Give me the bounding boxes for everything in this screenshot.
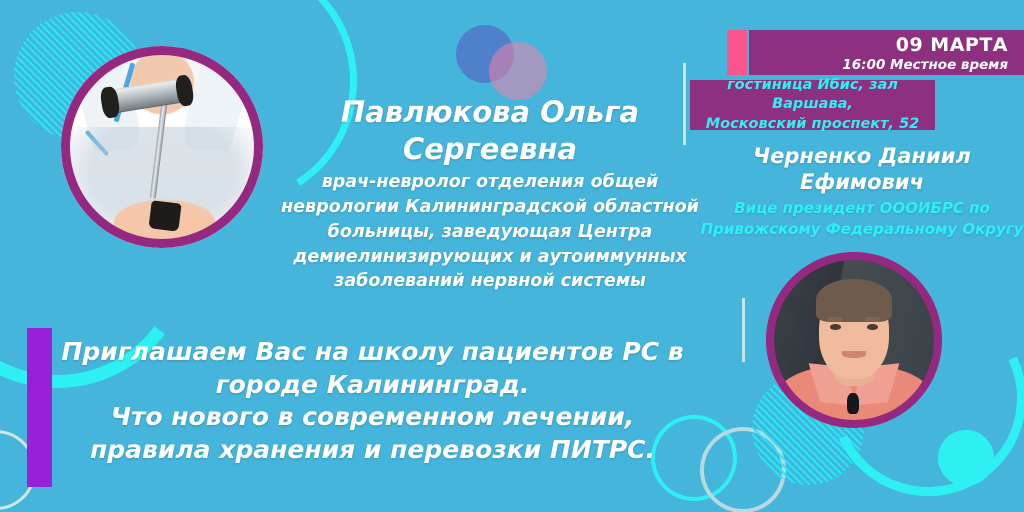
invitation-text: Приглашаем Вас на школу пациентов РС в г… [60, 336, 685, 466]
event-time: 16:00 Местное время [842, 57, 1008, 73]
venue-address-line1: гостиница Ибис, зал Варшава, [698, 76, 927, 115]
speaker-bio-vp-line1: Вице президент ОООИБРС по [734, 199, 990, 217]
speaker-name-doctor: Павлюкова Ольга Сергеевна [268, 94, 712, 167]
cyan-dot-bottom-right [938, 430, 994, 486]
invitation-line4: правила хранения и перевозки ПИТРС. [60, 434, 685, 467]
invitation-accent-bar [27, 328, 52, 487]
divider-line-right [742, 298, 745, 362]
speaker-name-doctor-line1: Павлюкова Ольга [341, 95, 639, 129]
speaker-name-vp-line1: Черненко Даниил [753, 144, 971, 168]
speaker-bio-doctor-line2: неврологии Калининградской областной [281, 197, 699, 217]
speaker-bio-doctor: врач-невролог отделения общей неврологии… [262, 170, 718, 294]
venue-banner: гостиница Ибис, зал Варшава, Московский … [690, 80, 935, 130]
venue-address-line2: Московский проспект, 52 [698, 115, 927, 135]
venue-address: гостиница Ибис, зал Варшава, Московский … [690, 80, 935, 130]
speaker-bio-doctor-line4: демиелинизирующих и аутоиммунных [293, 247, 687, 267]
speaker-bio-doctor-line1: врач-невролог отделения общей [322, 172, 659, 192]
invitation-line2: городе Калининград. [60, 369, 685, 402]
speaker-name-vp: Черненко Даниил Ефимович [700, 143, 1024, 196]
overlap-circle-pink [489, 42, 547, 100]
event-poster: 09 МАРТА 16:00 Местное время гостиница И… [0, 0, 1024, 512]
ring-outline-gray-bottom [700, 427, 786, 512]
speaker-bio-doctor-line5: заболеваний нервной системы [334, 271, 646, 291]
speaker-bio-vp: Вице президент ОООИБРС по Привожскому Фе… [700, 198, 1024, 239]
date-banner-pink-tab [727, 30, 747, 75]
date-banner: 09 МАРТА 16:00 Местное время [749, 30, 1024, 75]
speaker-name-vp-line2: Ефимович [800, 170, 924, 194]
event-date: 09 МАРТА [896, 34, 1008, 56]
invitation-line3: Что нового в современном лечении, [60, 401, 685, 434]
speaker-photo-vp-ring [766, 252, 942, 428]
speaker-bio-vp-line2: Привожскому Федеральному Округу [701, 220, 1024, 238]
invitation-line1: Приглашаем Вас на школу пациентов РС в [60, 336, 685, 369]
speaker-bio-doctor-line3: больницы, заведующая Центра [328, 222, 653, 242]
overlap-circle-blue [456, 25, 514, 83]
speaker-photo-doctor-ring [61, 46, 263, 248]
speaker-name-doctor-line2: Сергеевна [403, 132, 577, 166]
